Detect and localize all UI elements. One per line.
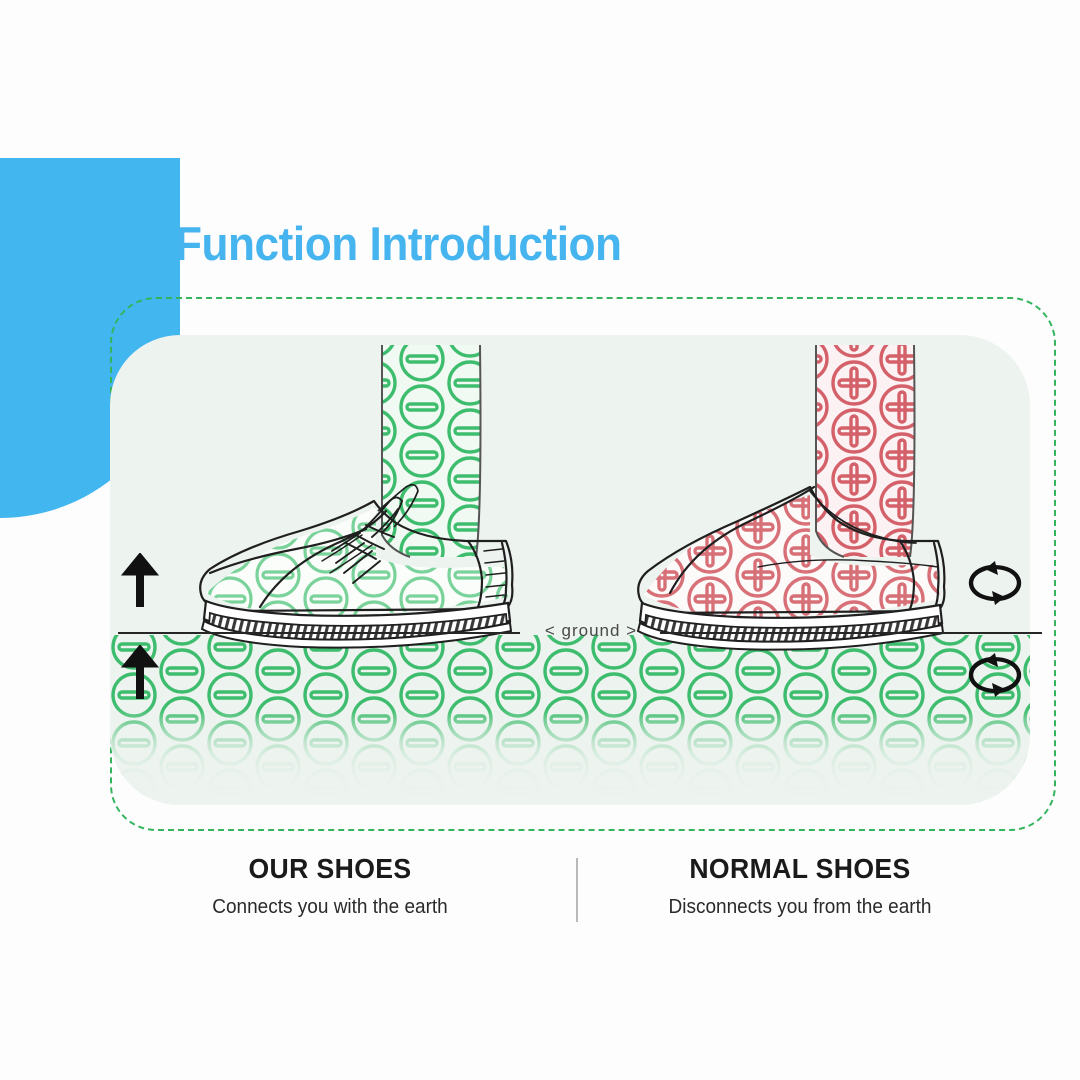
caption-divider bbox=[576, 858, 578, 922]
caption-normal-shoes-subtitle: Disconnects you from the earth bbox=[591, 896, 1009, 919]
caption-our-shoes: OUR SHOES Connects you with the earth bbox=[110, 855, 550, 919]
ground-line-right bbox=[660, 632, 1042, 634]
caption-our-shoes-title: OUR SHOES bbox=[121, 855, 539, 883]
caption-normal-shoes: NORMAL SHOES Disconnects you from the ea… bbox=[580, 855, 1020, 919]
captions-row: OUR SHOES Connects you with the earth NO… bbox=[110, 855, 1030, 935]
illustration-panel bbox=[110, 335, 1030, 805]
earth-fade-overlay bbox=[110, 635, 1030, 805]
caption-normal-shoes-title: NORMAL SHOES bbox=[591, 855, 1009, 883]
loop-arrow-icon-above-ground bbox=[965, 558, 1025, 613]
slide-canvas: Function Introduction bbox=[0, 0, 1080, 1080]
up-arrow-icon-above-ground bbox=[120, 553, 160, 612]
caption-our-shoes-subtitle: Connects you with the earth bbox=[121, 896, 539, 919]
up-arrow-icon-below-ground bbox=[120, 645, 160, 704]
our-shoe-group bbox=[190, 335, 530, 648]
loop-arrow-icon-below-ground bbox=[965, 650, 1025, 705]
normal-shoe-group bbox=[630, 335, 960, 650]
ground-line-left bbox=[118, 632, 520, 634]
ground-label: < ground > bbox=[524, 621, 658, 641]
page-title: Function Introduction bbox=[175, 216, 622, 271]
